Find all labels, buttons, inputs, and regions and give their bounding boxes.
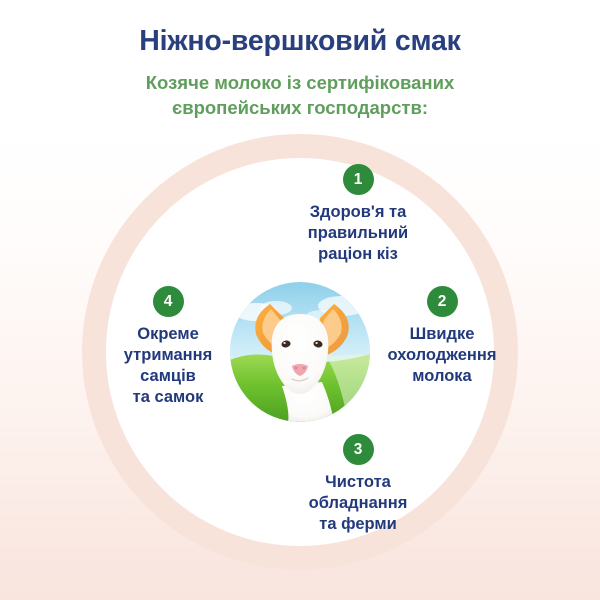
subtitle-line-2: європейських господарств: [56,96,544,121]
segment-1-line-3: раціон кіз [268,244,448,265]
segment-2-line-2: охолодження [358,345,526,366]
quality-wheel-diagram: 1 Здоров'я та правильний раціон кіз 2 Шв… [82,134,518,570]
goat-milk-quality-infographic: Ніжно-вершковий смак Козяче молоко із се… [0,0,600,600]
segment-text-3: Чистота обладнання та ферми [268,472,448,535]
header: Ніжно-вершковий смак Козяче молоко із се… [0,0,600,121]
segment-3-line-3: та ферми [268,514,448,535]
segment-label-1[interactable]: 1 Здоров'я та правильний раціон кіз [268,164,448,265]
segment-badge-2: 2 [427,286,458,317]
segment-4-line-4: та самок [84,387,252,408]
segment-2-line-1: Швидке [358,324,526,345]
segment-2-line-3: молока [358,366,526,387]
segment-text-2: Швидке охолодження молока [358,324,526,387]
page-title: Ніжно-вершковий смак [0,26,600,57]
segment-label-3[interactable]: 3 Чистота обладнання та ферми [268,434,448,535]
page-subtitle: Козяче молоко із сертифікованих європейс… [0,71,600,121]
segment-text-4: Окреме утримання самців та самок [84,324,252,408]
segment-label-4[interactable]: 4 Окреме утримання самців та самок [84,286,252,408]
segment-4-line-1: Окреме [84,324,252,345]
segment-text-1: Здоров'я та правильний раціон кіз [268,202,448,265]
segment-1-line-1: Здоров'я та [268,202,448,223]
segment-label-2[interactable]: 2 Швидке охолодження молока [358,286,526,387]
segment-badge-4: 4 [153,286,184,317]
segment-4-line-2: утримання [84,345,252,366]
segment-badge-1: 1 [343,164,374,195]
subtitle-line-1: Козяче молоко із сертифікованих [56,71,544,96]
segment-1-line-2: правильний [268,223,448,244]
segment-badge-3: 3 [343,434,374,465]
segment-4-line-3: самців [84,366,252,387]
segment-3-line-1: Чистота [268,472,448,493]
segment-3-line-2: обладнання [268,493,448,514]
